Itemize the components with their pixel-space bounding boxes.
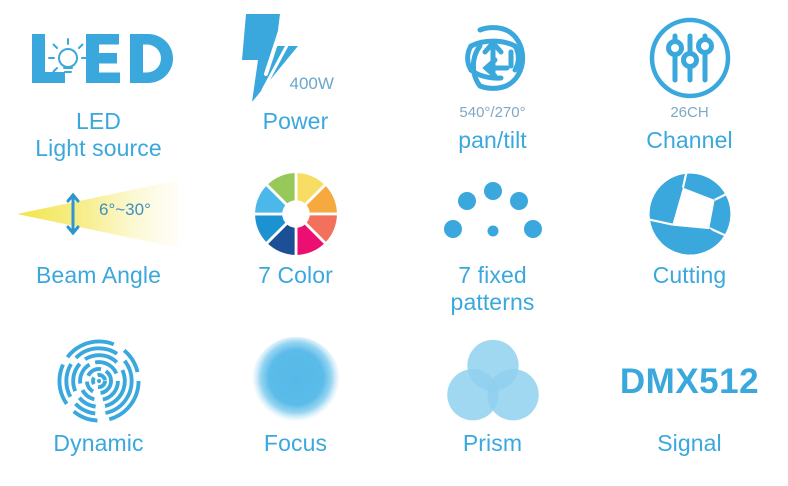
seven-dots-icon bbox=[443, 179, 543, 249]
feature-label: Prism bbox=[463, 430, 522, 456]
feature-channel: 26CH Channel bbox=[591, 0, 788, 162]
rotation-arrows-icon bbox=[447, 14, 539, 102]
feature-beam-angle: 6°~30° Beam Angle bbox=[0, 162, 197, 322]
feature-pan-tilt: 540°/270° pan/tilt bbox=[394, 0, 591, 162]
feature-label: Signal bbox=[657, 430, 722, 456]
feature-label-line1: LED bbox=[35, 108, 162, 135]
channel-spec-value: 26CH bbox=[670, 104, 708, 121]
feature-label-line1: 7 fixed bbox=[451, 262, 535, 289]
feature-label: Channel bbox=[646, 127, 732, 153]
feature-cutting: Cutting bbox=[591, 162, 788, 322]
feature-led-light-source: LED Light source bbox=[0, 0, 197, 162]
feature-label: pan/tilt bbox=[458, 127, 527, 153]
pan-tilt-spec-value: 540°/270° bbox=[459, 104, 525, 121]
dmx-wordmark-text: DMX512 bbox=[620, 364, 759, 399]
power-spec-value: 400W bbox=[290, 74, 334, 94]
feature-label: Dynamic bbox=[53, 430, 143, 456]
feature-label: Focus bbox=[264, 430, 327, 456]
blurred-circle-icon bbox=[250, 335, 342, 427]
feature-label: 7 Color bbox=[258, 262, 333, 288]
feature-color: 7 Color bbox=[197, 162, 394, 322]
feature-label: Beam Angle bbox=[36, 262, 161, 288]
feature-label-line2: patterns bbox=[451, 289, 535, 316]
feature-label: LED Light source bbox=[35, 108, 162, 162]
feature-focus: Focus bbox=[197, 322, 394, 486]
dmx-wordmark-icon: DMX512 bbox=[620, 338, 759, 424]
sliders-circle-icon bbox=[646, 14, 734, 102]
feature-label: Cutting bbox=[653, 262, 727, 288]
feature-label: 7 fixed patterns bbox=[451, 262, 535, 316]
three-circles-icon bbox=[447, 338, 539, 424]
feature-fixed-patterns: 7 fixed patterns bbox=[394, 162, 591, 322]
beam-angle-spec-value: 6°~30° bbox=[99, 200, 151, 220]
color-wheel-icon bbox=[250, 168, 342, 260]
led-wordmark-icon bbox=[24, 14, 174, 102]
feature-label-line2: Light source bbox=[35, 135, 162, 162]
shutter-cut-icon bbox=[646, 170, 734, 258]
feature-signal: DMX512 Signal bbox=[591, 322, 788, 486]
concentric-maze-icon bbox=[56, 338, 142, 424]
feature-label: Power bbox=[263, 108, 329, 134]
feature-prism: Prism bbox=[394, 322, 591, 486]
feature-power: 400W Power bbox=[197, 0, 394, 162]
feature-dynamic: Dynamic bbox=[0, 322, 197, 486]
feature-grid: LED Light source 400W Power bbox=[0, 0, 788, 486]
